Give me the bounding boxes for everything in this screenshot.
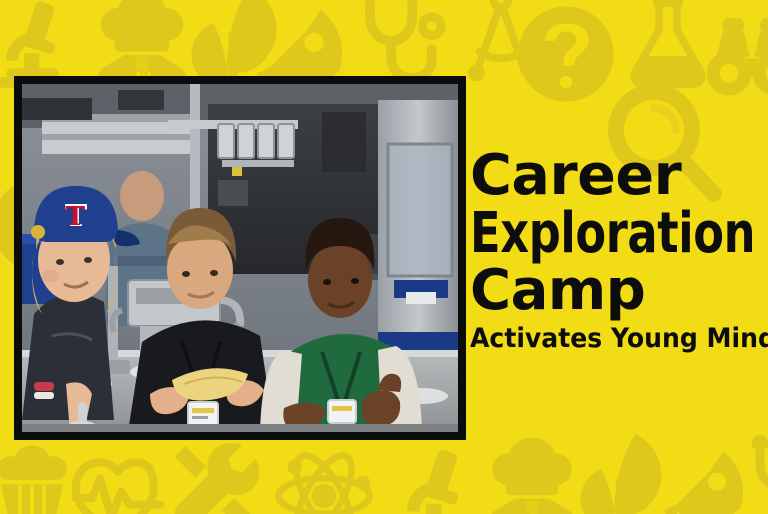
rocket-icon bbox=[652, 446, 756, 514]
photo-frame: T T bbox=[14, 76, 466, 440]
headline-block: Career Exploration Camp Activates Young … bbox=[470, 150, 768, 352]
camp-photo: T T bbox=[22, 84, 458, 432]
binoculars-icon bbox=[706, 10, 768, 102]
svg-text:T: T bbox=[65, 202, 85, 232]
headline-subtitle: Activates Young Minds bbox=[470, 325, 747, 352]
chef-icon bbox=[478, 432, 586, 514]
compass-icon bbox=[452, 0, 550, 82]
headline-line-2: Exploration bbox=[470, 208, 708, 260]
cupcake-icon bbox=[0, 440, 80, 514]
tools-icon bbox=[166, 434, 270, 514]
flask-icon bbox=[620, 0, 716, 90]
poster-graphic: T T bbox=[0, 0, 768, 514]
microscope-icon bbox=[386, 442, 486, 514]
headline-line-3: Camp bbox=[470, 265, 768, 317]
stethoscope-icon bbox=[736, 434, 768, 514]
leaf-icon bbox=[566, 428, 678, 514]
question-icon bbox=[516, 4, 616, 104]
heartbeat-icon bbox=[66, 446, 170, 514]
headline-line-1: Career bbox=[470, 150, 768, 202]
atom-icon bbox=[272, 444, 376, 514]
stethoscope-icon bbox=[344, 0, 448, 88]
photo-illustration: T T bbox=[22, 84, 458, 432]
